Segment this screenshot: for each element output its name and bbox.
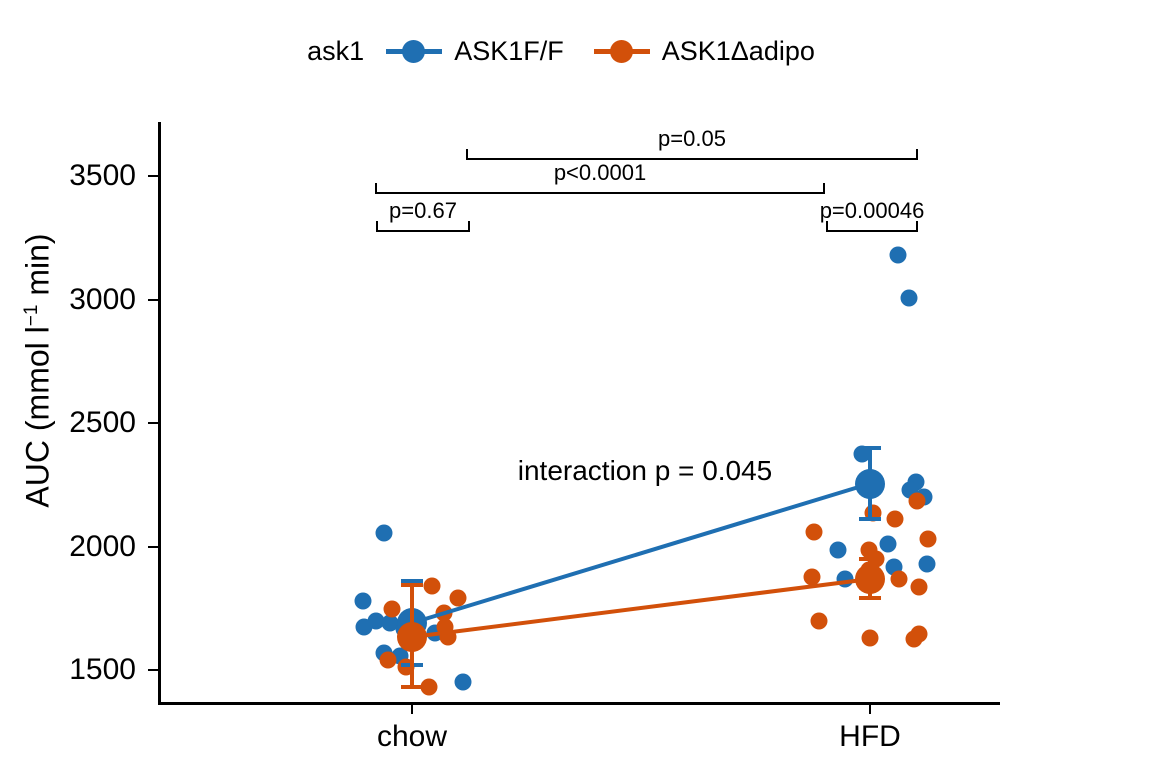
y-tick-mark	[148, 669, 158, 671]
legend-label-ask1adipo: ASK1Δadipo	[662, 36, 815, 67]
significance-bracket-line	[826, 230, 918, 232]
data-point	[380, 652, 397, 669]
x-axis-spine	[158, 702, 1000, 705]
legend-item-ask1ff[interactable]: ASK1F/F	[386, 36, 564, 67]
data-point	[810, 612, 827, 629]
data-point	[889, 247, 906, 264]
x-tick-label: chow	[377, 720, 447, 754]
data-point	[918, 555, 935, 572]
error-bar-cap-bottom	[859, 517, 881, 521]
data-point	[454, 674, 471, 691]
y-tick-mark	[148, 299, 158, 301]
y-tick-label: 3500	[0, 159, 136, 193]
y-tick-mark	[148, 546, 158, 548]
chart-legend: ask1 ASK1F/F ASK1Δadipo	[0, 28, 1152, 74]
significance-label: p=0.00046	[820, 198, 925, 224]
significance-label: p=0.05	[658, 126, 726, 152]
legend-key-icon	[594, 38, 650, 64]
mean-marker	[397, 622, 427, 652]
trend-line	[412, 577, 871, 639]
significance-bracket-tick	[823, 183, 825, 193]
data-point	[805, 523, 822, 540]
significance-bracket-tick	[375, 183, 377, 193]
data-point	[830, 542, 847, 559]
legend-dot-icon	[402, 40, 425, 63]
error-bar-cap-bottom	[859, 596, 881, 600]
data-point	[909, 492, 926, 509]
interaction-annotation: interaction p = 0.045	[518, 455, 773, 487]
y-tick-mark	[148, 422, 158, 424]
trend-line	[411, 482, 870, 625]
data-point	[423, 578, 440, 595]
chart-root: ask1 ASK1F/F ASK1Δadipo AUC (mmol l−1 mi…	[0, 0, 1152, 768]
significance-bracket-tick	[468, 221, 470, 231]
y-tick-label: 1500	[0, 653, 136, 687]
data-point	[880, 536, 897, 553]
data-point	[911, 579, 928, 596]
mean-marker	[855, 469, 885, 499]
significance-bracket-line	[466, 158, 918, 160]
legend-dot-icon	[610, 40, 633, 63]
data-point	[905, 631, 922, 648]
data-point	[920, 531, 937, 548]
significance-bracket-line	[376, 230, 470, 232]
significance-bracket-tick	[376, 221, 378, 231]
y-axis-spine	[158, 122, 161, 705]
data-point	[887, 511, 904, 528]
significance-label: p<0.0001	[554, 160, 646, 186]
error-bar-cap-top	[859, 557, 881, 561]
significance-bracket-tick	[916, 149, 918, 159]
y-tick-label: 2500	[0, 406, 136, 440]
data-point	[890, 570, 907, 587]
error-bar-cap-top	[401, 583, 423, 587]
significance-bracket-line	[375, 192, 825, 194]
x-tick-mark	[869, 705, 871, 714]
legend-title: ask1	[307, 36, 364, 67]
data-point	[354, 592, 371, 609]
legend-item-ask1adipo[interactable]: ASK1Δadipo	[594, 36, 815, 67]
data-point	[862, 629, 879, 646]
data-point	[356, 618, 373, 635]
y-tick-label: 3000	[0, 283, 136, 317]
data-point	[900, 290, 917, 307]
error-bar-cap-bottom	[401, 685, 423, 689]
error-bar-cap-top	[859, 446, 881, 450]
legend-key-icon	[386, 38, 442, 64]
data-point	[376, 524, 393, 541]
mean-marker	[855, 564, 885, 594]
y-tick-mark	[148, 175, 158, 177]
y-tick-label: 2000	[0, 530, 136, 564]
significance-label: p=0.67	[389, 198, 457, 224]
x-tick-mark	[411, 705, 413, 714]
x-tick-label: HFD	[839, 720, 901, 754]
significance-bracket-tick	[466, 149, 468, 159]
legend-label-ask1ff: ASK1F/F	[454, 36, 564, 67]
